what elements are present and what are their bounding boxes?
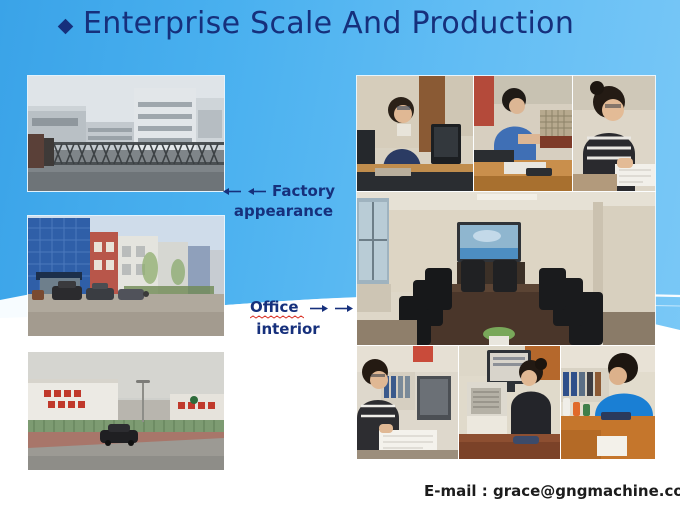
- office-writing-photo[interactable]: [357, 346, 458, 459]
- office-staff-reading-photo[interactable]: [573, 76, 655, 191]
- factory-blue-building-photo[interactable]: [28, 216, 224, 336]
- meeting-room-photo[interactable]: [357, 192, 655, 345]
- arrow-left-icon-2: [247, 186, 267, 197]
- annotation-office-line1: Office: [250, 297, 354, 319]
- factory-yard-photo[interactable]: [28, 352, 224, 470]
- annotation-factory-appearance: Factory appearance: [222, 181, 335, 221]
- office-reception-photo[interactable]: [459, 346, 560, 459]
- office-staff-computer-photo[interactable]: [357, 76, 473, 191]
- page-title: Enterprise Scale And Production: [83, 6, 574, 41]
- contact-email[interactable]: E-mail : grace@gngmachine.com: [424, 482, 680, 500]
- office-staff-desk-photo[interactable]: [474, 76, 572, 191]
- office-worker-blue-photo[interactable]: [561, 346, 655, 459]
- annotation-office-label-line1: Office: [250, 298, 299, 316]
- factory-gate-photo[interactable]: [28, 76, 224, 191]
- annotation-factory-label-line1: Factory: [272, 181, 335, 201]
- annotation-office-interior: Office interior: [250, 297, 354, 339]
- arrow-left-icon-1: [222, 186, 242, 197]
- annotation-factory-label-line2: appearance: [222, 201, 335, 221]
- slide-canvas: Enterprise Scale And Production: [0, 0, 680, 518]
- arrow-right-icon-2: [334, 303, 354, 314]
- annotation-factory-line1: Factory: [222, 181, 335, 201]
- arrow-right-icon-1: [309, 303, 329, 314]
- diamond-bullet-icon: [58, 19, 74, 35]
- slide-title-row: Enterprise Scale And Production: [60, 6, 574, 41]
- annotation-office-label-line2: interior: [250, 319, 326, 339]
